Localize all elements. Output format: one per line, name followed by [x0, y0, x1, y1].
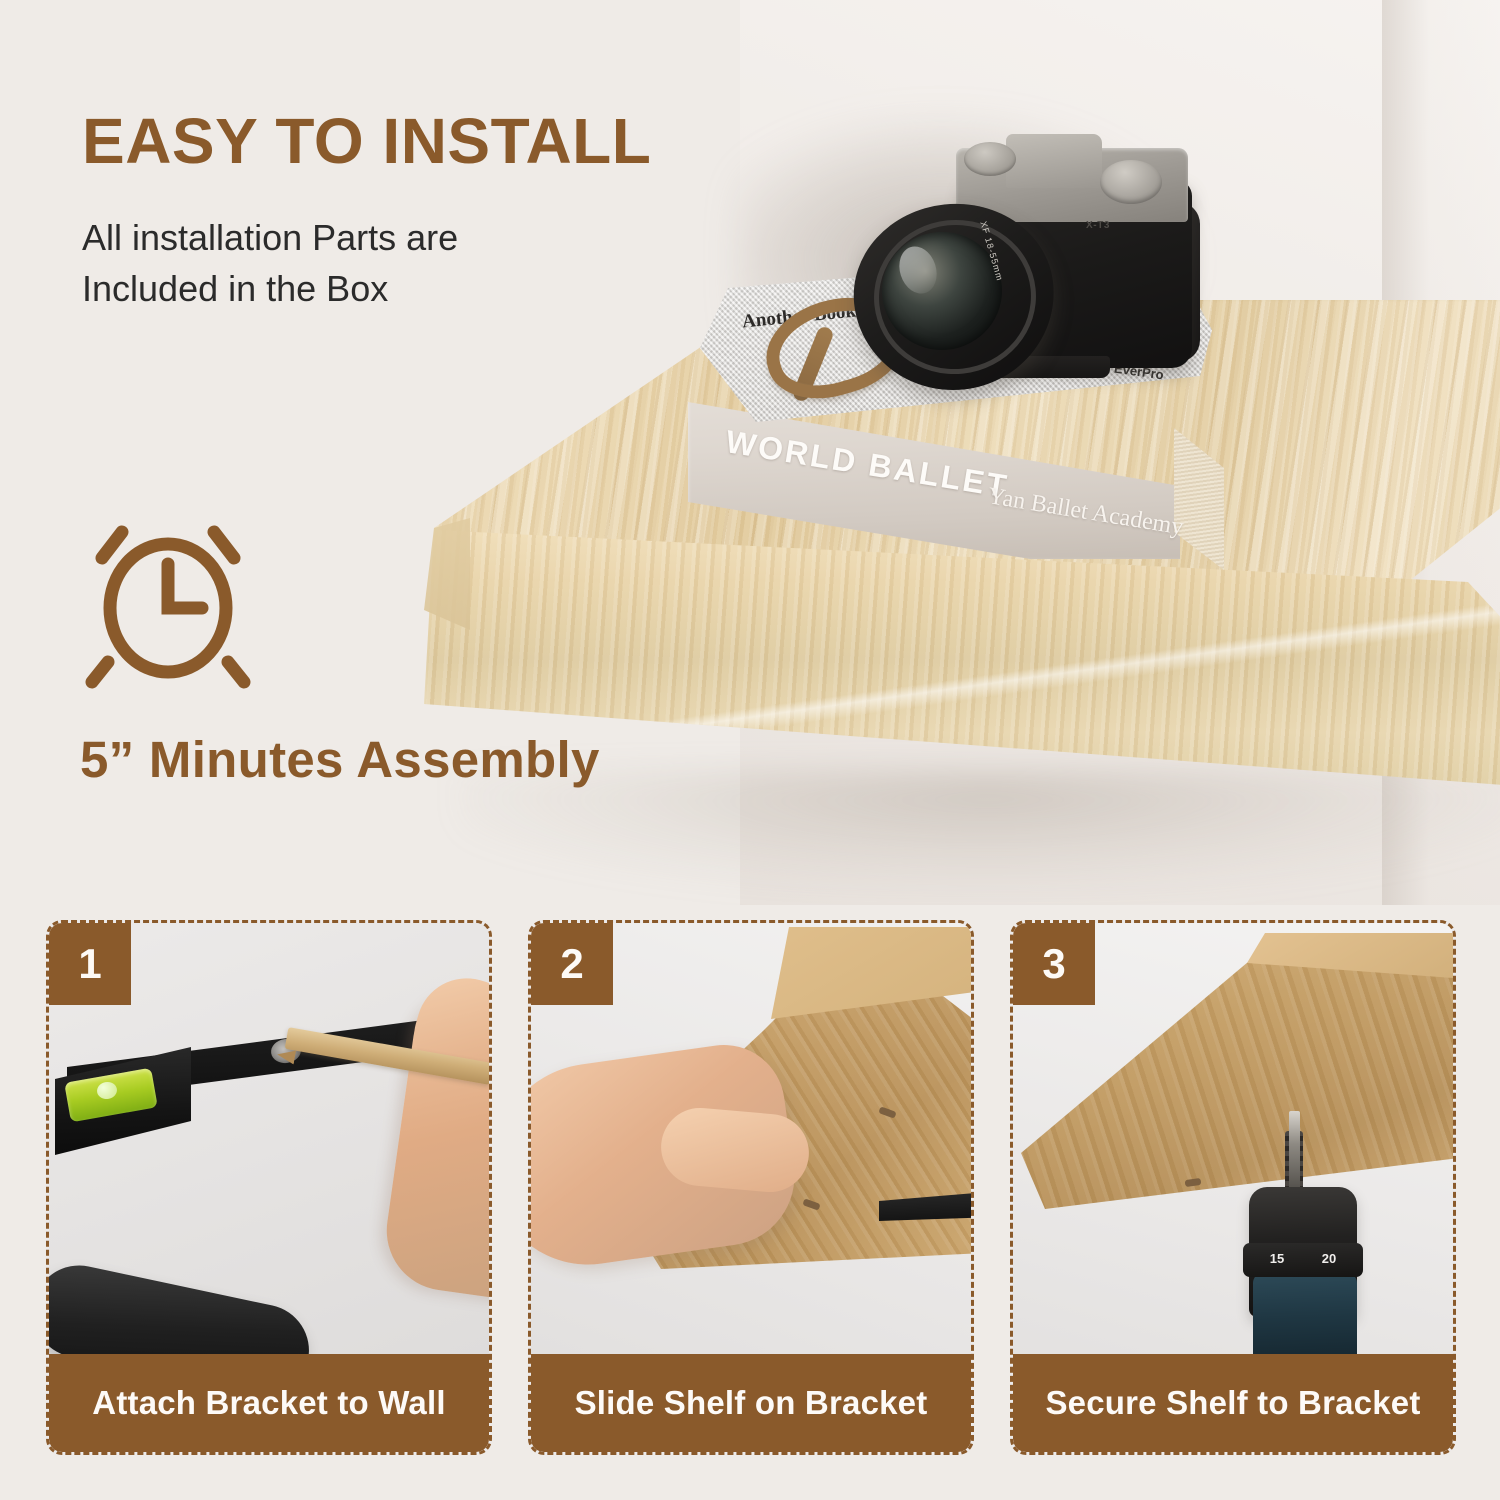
- step-caption: Secure Shelf to Bracket: [1013, 1354, 1453, 1452]
- camera-viewfinder-prism: [1006, 134, 1102, 188]
- alarm-clock-icon: [78, 512, 258, 692]
- camera-model-label: X-T3: [1086, 220, 1110, 231]
- shelf-drop-shadow: [458, 770, 1500, 890]
- torque-mark-20: 20: [1322, 1251, 1336, 1266]
- drill-body: [1253, 1273, 1357, 1363]
- step-panel-3: 15 20 3 Secure Shelf to Bracket: [1010, 920, 1456, 1455]
- installation-steps: 1 Attach Bracket to Wall 2 Slide Shelf o…: [46, 920, 1456, 1455]
- page-title: EASY TO INSTALL: [82, 104, 651, 178]
- step-panel-1: 1 Attach Bracket to Wall: [46, 920, 492, 1455]
- screw: [1289, 1111, 1300, 1189]
- drill-torque-marks: 15 20: [1251, 1251, 1355, 1266]
- assembly-time-label: 5” Minutes Assembly: [80, 730, 600, 789]
- step-number-badge: 3: [1013, 923, 1095, 1005]
- page-subtitle: All installation Parts are Included in t…: [82, 212, 458, 315]
- step-caption: Attach Bracket to Wall: [49, 1354, 489, 1452]
- infographic-page: WORLD BALLET Yan Ballet Academy Another …: [0, 0, 1500, 1500]
- camera-iso-dial: [1100, 160, 1162, 204]
- camera-shutter-dial: [964, 142, 1016, 176]
- step-panel-2: 2 Slide Shelf on Bracket: [528, 920, 974, 1455]
- camera: X-T3 XF 18-55mm: [838, 128, 1218, 396]
- torque-mark-15: 15: [1270, 1251, 1284, 1266]
- step-number-badge: 2: [531, 923, 613, 1005]
- step-number-badge: 1: [49, 923, 131, 1005]
- step-caption: Slide Shelf on Bracket: [531, 1354, 971, 1452]
